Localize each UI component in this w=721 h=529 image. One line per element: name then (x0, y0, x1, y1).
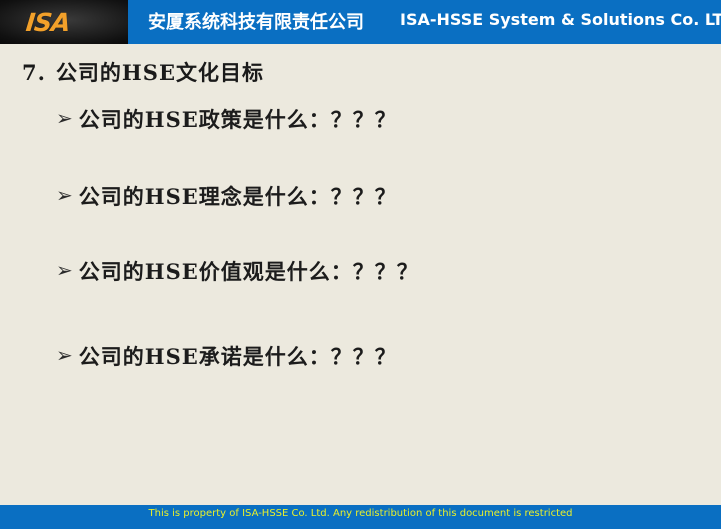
list-item: ➢ 公司的HSE价值观是什么：？？？ (56, 256, 419, 286)
list-item-label: 公司的HSE承诺是什么：？？？ (79, 341, 397, 371)
logo-panel: ISA (0, 0, 128, 44)
arrow-bullet-icon: ➢ (56, 345, 73, 365)
slide-header: ISA 安厦系统科技有限责任公司 ISA-HSSE System & Solut… (0, 0, 721, 44)
slide-title-text: 公司的HSE文化目标 (56, 60, 264, 85)
list-item: ➢ 公司的HSE理念是什么：？？？ (56, 181, 397, 211)
arrow-bullet-icon: ➢ (56, 260, 73, 280)
presentation-slide: ISA 安厦系统科技有限责任公司 ISA-HSSE System & Solut… (0, 0, 721, 529)
list-item-label: 公司的HSE价值观是什么：？？？ (79, 256, 419, 286)
list-item-label: 公司的HSE理念是什么：？？？ (79, 181, 397, 211)
list-item: ➢ 公司的HSE承诺是什么：？？？ (56, 341, 397, 371)
slide-body: 7.公司的HSE文化目标 ➢ 公司的HSE政策是什么：？？？ ➢ 公司的HSE理… (0, 44, 721, 505)
arrow-bullet-icon: ➢ (56, 108, 73, 128)
slide-title-number: 7. (22, 60, 46, 85)
slide-footer: This is property of ISA-HSSE Co. Ltd. An… (0, 505, 721, 529)
list-item: ➢ 公司的HSE政策是什么：？？？ (56, 104, 397, 134)
company-name-english: ISA-HSSE System & Solutions Co. LTD (400, 10, 721, 29)
copyright-notice: This is property of ISA-HSSE Co. Ltd. An… (0, 508, 721, 519)
arrow-bullet-icon: ➢ (56, 185, 73, 205)
isa-logo: ISA (24, 8, 71, 37)
slide-title: 7.公司的HSE文化目标 (22, 57, 264, 87)
list-item-label: 公司的HSE政策是什么：？？？ (79, 104, 397, 134)
company-name-chinese: 安厦系统科技有限责任公司 (148, 8, 364, 34)
